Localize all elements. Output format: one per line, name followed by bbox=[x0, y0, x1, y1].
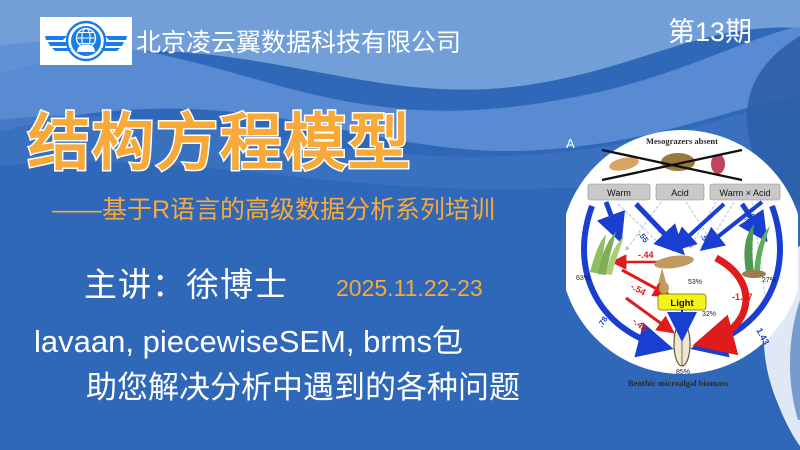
sem-path-diagram: A Mesograzers absent bbox=[566, 122, 798, 390]
svg-text:-1.27: -1.27 bbox=[732, 292, 753, 302]
sem-diagram-svg: Mesograzers absent Warm Acid W bbox=[566, 122, 798, 390]
predictor-box-warm-acid: Warm × Acid bbox=[710, 184, 780, 200]
light-box-label: Light bbox=[670, 298, 694, 309]
svg-text:32%: 32% bbox=[702, 311, 716, 318]
svg-text:27%: 27% bbox=[762, 277, 776, 284]
speaker-row: 主讲：徐博士 2025.11.22-23 bbox=[84, 258, 483, 306]
speaker-label: 主讲：徐博士 bbox=[84, 258, 288, 306]
r-packages-line: lavaan, piecewiseSEM, brms包 bbox=[34, 316, 463, 361]
benefit-line: 助您解决分析中遇到的各种问题 bbox=[86, 362, 520, 407]
predictor-label-warm: Warm bbox=[607, 188, 631, 198]
issue-number-badge: 第13期 bbox=[668, 10, 752, 49]
svg-text:.49: .49 bbox=[606, 215, 618, 224]
svg-text:63%: 63% bbox=[576, 275, 590, 282]
diagram-top-caption: Mesograzers absent bbox=[646, 136, 718, 146]
svg-text:.53: .53 bbox=[744, 213, 756, 222]
svg-text:.22: .22 bbox=[674, 312, 687, 322]
predictor-label-warm-acid: Warm × Acid bbox=[720, 188, 771, 198]
poster-subtitle: ——基于R语言的高级数据分析系列培训 bbox=[52, 190, 495, 226]
svg-text:53%: 53% bbox=[688, 279, 702, 286]
winged-globe-logo-icon bbox=[43, 19, 129, 63]
poster-title: 结构方程模型 bbox=[28, 92, 412, 182]
light-box: Light bbox=[658, 294, 706, 310]
predictor-box-acid: Acid bbox=[656, 184, 704, 200]
course-date: 2025.11.22-23 bbox=[336, 275, 483, 302]
svg-text:-.44: -.44 bbox=[638, 250, 654, 260]
panel-letter: A bbox=[566, 136, 575, 151]
predictor-box-warm: Warm bbox=[588, 184, 650, 200]
poster-canvas: 北京凌云翼数据科技有限公司 第13期 结构方程模型 ——基于R语言的高级数据分析… bbox=[0, 0, 800, 450]
predictor-label-acid: Acid bbox=[671, 188, 689, 198]
company-name: 北京凌云翼数据科技有限公司 bbox=[136, 23, 461, 59]
company-logo bbox=[40, 17, 132, 65]
svg-text:85%: 85% bbox=[676, 369, 690, 376]
diagram-bottom-caption: Benthic microalgal biomass bbox=[628, 378, 729, 388]
